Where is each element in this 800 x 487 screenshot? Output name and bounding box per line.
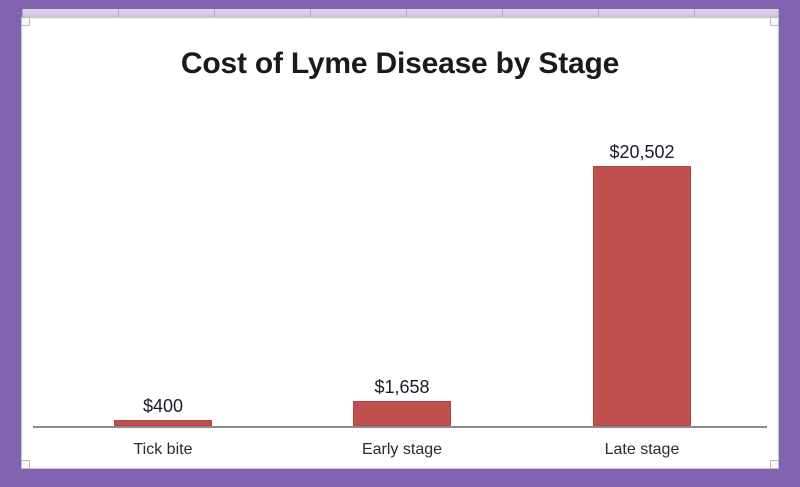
category-axis-label: Early stage xyxy=(343,441,461,459)
chart-object[interactable]: Cost of Lyme Disease by Stage $400Tick b… xyxy=(21,17,779,469)
plot-area: $400Tick bite$1,658Early stage$20,502Lat… xyxy=(22,18,780,470)
bar-value-label: $20,502 xyxy=(593,142,691,163)
category-axis-label: Tick bite xyxy=(104,441,222,459)
bar[interactable] xyxy=(114,420,212,426)
bar[interactable] xyxy=(353,401,451,426)
bar[interactable] xyxy=(593,166,691,426)
bar-value-label: $400 xyxy=(114,396,212,417)
bar-value-label: $1,658 xyxy=(353,377,451,398)
category-axis-label: Late stage xyxy=(583,441,701,459)
category-axis-line xyxy=(33,426,767,428)
screenshot-root: Cost of Lyme Disease by Stage $400Tick b… xyxy=(0,0,800,487)
